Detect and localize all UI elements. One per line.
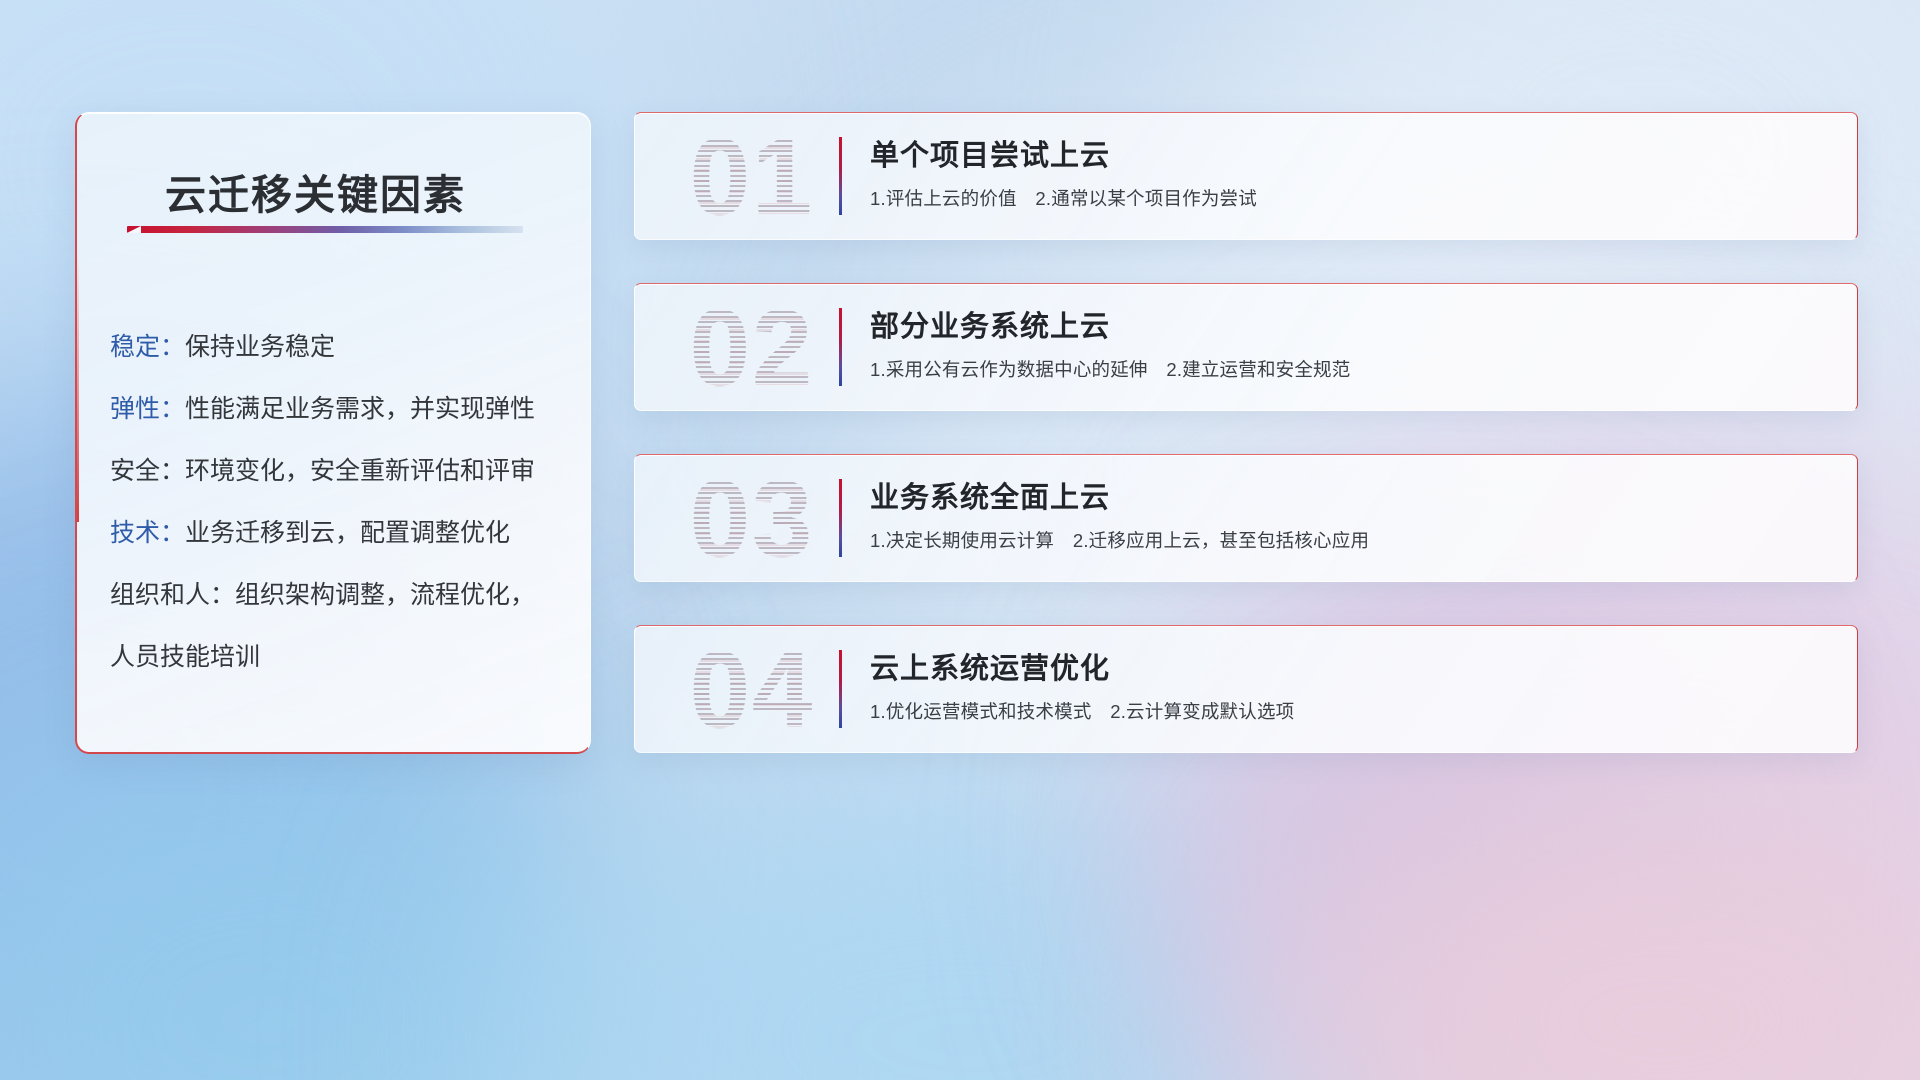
- key-factor-description: 保持业务稳定: [185, 333, 335, 361]
- stage-card[interactable]: 0202部分业务系统上云1.采用公有云作为数据中心的延伸 2.建立运营和安全规范: [634, 283, 1858, 411]
- key-factor-label: 稳定：: [110, 333, 185, 361]
- key-factor-row: 组织和人：组织架构调整，流程优化，: [110, 564, 568, 626]
- stage-number-watermark: 03: [657, 454, 847, 582]
- stage-title: 单个项目尝试上云: [870, 132, 1110, 174]
- title-underline-notch: [127, 226, 141, 233]
- key-factor-description: 业务迁移到云，配置调整优化: [185, 519, 510, 547]
- migration-stage-cards: 0101单个项目尝试上云1.评估上云的价值 2.通常以某个项目作为尝试0202部…: [634, 112, 1858, 753]
- stage-divider-bar: [839, 308, 842, 386]
- stage-divider-bar: [839, 137, 842, 215]
- key-factor-row: 技术：业务迁移到云，配置调整优化: [110, 502, 568, 564]
- key-factors-list: 稳定：保持业务稳定弹性：性能满足业务需求，并实现弹性安全：环境变化，安全重新评估…: [110, 316, 568, 688]
- key-factor-description: 环境变化，安全重新评估和评审: [185, 457, 535, 485]
- stage-title: 业务系统全面上云: [870, 474, 1110, 516]
- page-title: 云迁移关键因素: [165, 161, 466, 221]
- key-factor-label: 弹性：: [110, 395, 185, 423]
- stage-divider-bar: [839, 479, 842, 557]
- key-factor-label: 组织和人：: [110, 581, 235, 609]
- stage-title: 部分业务系统上云: [870, 303, 1110, 345]
- key-factor-row: 弹性：性能满足业务需求，并实现弹性: [110, 378, 568, 440]
- slide-stage: 云迁移关键因素 稳定：保持业务稳定弹性：性能满足业务需求，并实现弹性安全：环境变…: [0, 0, 1920, 1080]
- stage-number-watermark: 02: [657, 283, 847, 411]
- key-factor-description: 组织架构调整，流程优化，: [235, 581, 535, 609]
- stage-subtitle: 1.决定长期使用云计算 2.迁移应用上云，甚至包括核心应用: [870, 527, 1369, 553]
- stage-card[interactable]: 0404云上系统运营优化1.优化运营模式和技术模式 2.云计算变成默认选项: [634, 625, 1858, 753]
- key-factor-label: 技术：: [110, 519, 185, 547]
- key-factor-row: 安全：环境变化，安全重新评估和评审: [110, 440, 568, 502]
- key-factor-description: 性能满足业务需求，并实现弹性: [185, 395, 535, 423]
- stage-subtitle: 1.优化运营模式和技术模式 2.云计算变成默认选项: [870, 698, 1294, 724]
- stage-card[interactable]: 0101单个项目尝试上云1.评估上云的价值 2.通常以某个项目作为尝试: [634, 112, 1858, 240]
- key-factors-panel: 云迁移关键因素 稳定：保持业务稳定弹性：性能满足业务需求，并实现弹性安全：环境变…: [75, 112, 591, 754]
- stage-number-watermark: 04: [657, 625, 847, 753]
- key-factor-label: 安全：: [110, 457, 185, 485]
- stage-divider-bar: [839, 650, 842, 728]
- stage-card[interactable]: 0303业务系统全面上云1.决定长期使用云计算 2.迁移应用上云，甚至包括核心应…: [634, 454, 1858, 582]
- stage-title: 云上系统运营优化: [870, 645, 1110, 687]
- stage-subtitle: 1.评估上云的价值 2.通常以某个项目作为尝试: [870, 185, 1257, 211]
- stage-subtitle: 1.采用公有云作为数据中心的延伸 2.建立运营和安全规范: [870, 356, 1350, 382]
- key-factor-row: 稳定：保持业务稳定: [110, 316, 568, 378]
- key-factor-description: 人员技能培训: [110, 643, 260, 671]
- key-factor-row: 人员技能培训: [110, 626, 568, 688]
- title-underline-gradient: [127, 226, 523, 233]
- stage-number-watermark: 01: [657, 112, 847, 240]
